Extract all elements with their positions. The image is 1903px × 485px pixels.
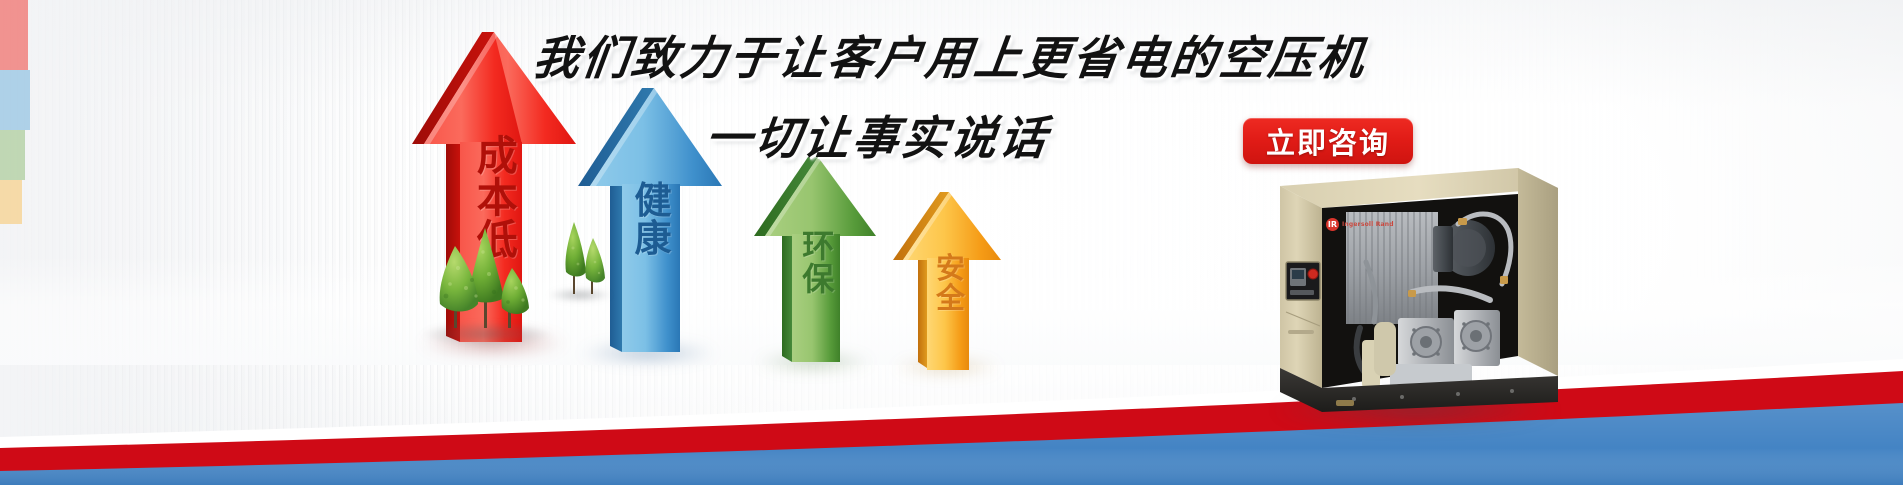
arrow-safety[interactable]: 安 全: [888, 188, 1006, 370]
ingersoll-rand-logo: IR Ingersoll Rand: [1326, 218, 1394, 231]
headline-line-2: 一切让事实说话: [702, 102, 1298, 168]
ir-wordmark: Ingersoll Rand: [1342, 221, 1394, 228]
tree-cluster-small: [556, 218, 612, 296]
arrow-eco[interactable]: 环 保: [748, 152, 882, 364]
ir-mark: IR: [1326, 218, 1339, 231]
headline: 我们致力于让客户用上更省电的空压机 一切让事实说话: [534, 22, 1294, 168]
tree-cluster-large: [428, 222, 538, 330]
promo-banner: 成 本 低: [0, 0, 1903, 485]
air-compressor-graphic: [1262, 150, 1562, 412]
headline-line-1: 我们致力于让客户用上更省电的空压机: [530, 22, 1298, 88]
tree-foliage-icon: [556, 218, 612, 296]
air-compressor-machine: IR Ingersoll Rand: [1262, 150, 1562, 412]
arrow-eco-label: 环 保: [802, 230, 834, 295]
arrow-safety-label: 安 全: [936, 254, 965, 313]
arrow-health-label: 健 康: [634, 182, 671, 257]
tree-foliage-icon: [428, 222, 538, 330]
